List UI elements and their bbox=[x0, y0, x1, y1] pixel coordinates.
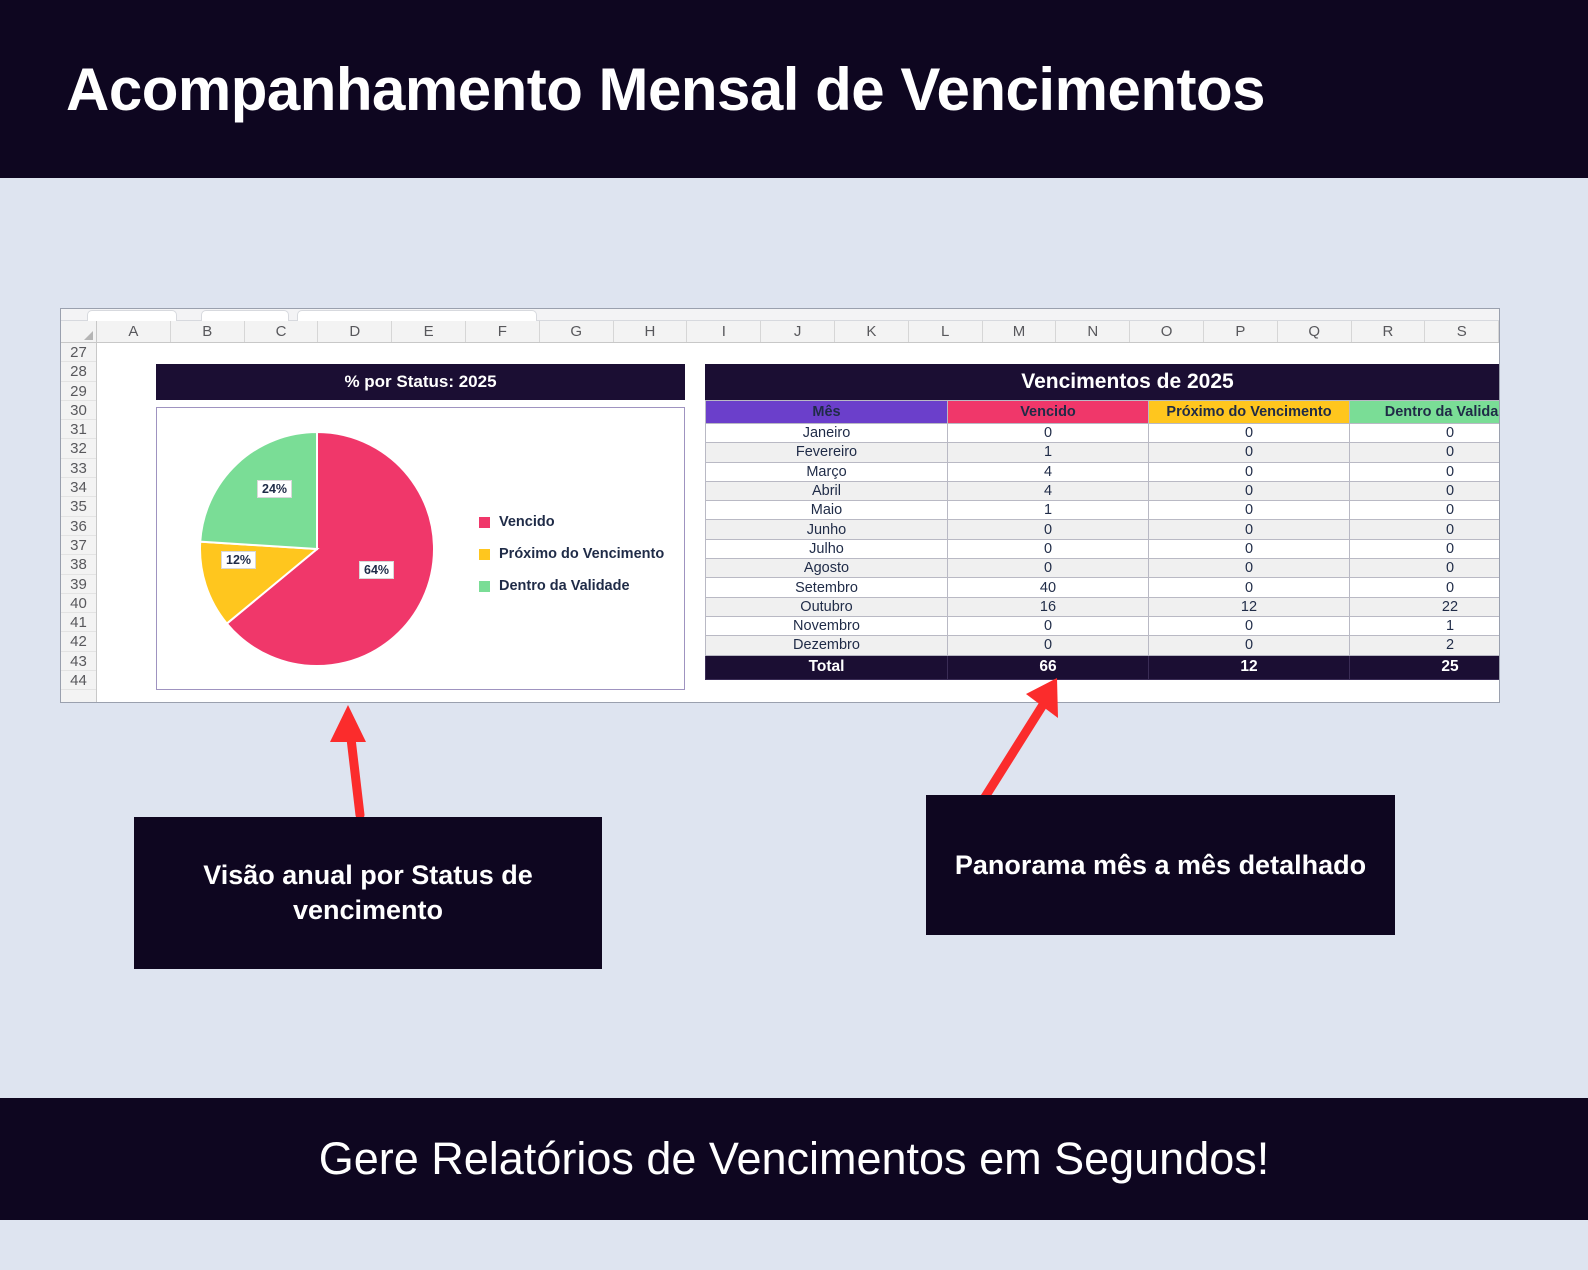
cell-mes: Agosto bbox=[706, 559, 948, 578]
cell-proximo: 0 bbox=[1149, 501, 1350, 520]
cell-proximo: 0 bbox=[1149, 424, 1350, 443]
col-header-proximo: Próximo do Vencimento bbox=[1149, 401, 1350, 424]
top-banner: Acompanhamento Mensal de Vencimentos bbox=[0, 0, 1588, 178]
cell-vencido: 0 bbox=[948, 424, 1149, 443]
cell-mes: Dezembro bbox=[706, 636, 948, 655]
row-header-32[interactable]: 32 bbox=[61, 439, 96, 458]
cell-vencido: 0 bbox=[948, 559, 1149, 578]
cell-proximo: 12 bbox=[1149, 597, 1350, 616]
row-header-29[interactable]: 29 bbox=[61, 382, 96, 401]
legend-swatch-green-icon bbox=[479, 581, 490, 592]
row-header-39[interactable]: 39 bbox=[61, 575, 96, 594]
vencimentos-table: Mês Vencido Próximo do Vencimento Dentro… bbox=[705, 400, 1500, 680]
total-dentro: 25 bbox=[1350, 655, 1501, 679]
cell-mes: Julho bbox=[706, 539, 948, 558]
legend-label-vencido: Vencido bbox=[499, 514, 555, 530]
row-header-43[interactable]: 43 bbox=[61, 652, 96, 671]
row-header-31[interactable]: 31 bbox=[61, 420, 96, 439]
cell-mes: Abril bbox=[706, 481, 948, 500]
cell-dentro: 0 bbox=[1350, 481, 1501, 500]
row-header-34[interactable]: 34 bbox=[61, 478, 96, 497]
cell-vencido: 40 bbox=[948, 578, 1149, 597]
table-total-row: Total 66 12 25 bbox=[706, 655, 1501, 679]
legend-item-proximo: Próximo do Vencimento bbox=[479, 546, 664, 562]
total-proximo: 12 bbox=[1149, 655, 1350, 679]
row-header-column[interactable]: 272829303132333435363738394041424344 bbox=[61, 343, 97, 702]
cell-proximo: 0 bbox=[1149, 539, 1350, 558]
pie-chart: 64% 12% 24% bbox=[199, 431, 435, 672]
cell-vencido: 16 bbox=[948, 597, 1149, 616]
row-header-40[interactable]: 40 bbox=[61, 594, 96, 613]
cell-vencido: 1 bbox=[948, 501, 1149, 520]
cell-proximo: 0 bbox=[1149, 559, 1350, 578]
cell-mes: Janeiro bbox=[706, 424, 948, 443]
cell-dentro: 0 bbox=[1350, 501, 1501, 520]
cell-dentro: 22 bbox=[1350, 597, 1501, 616]
cell-vencido: 0 bbox=[948, 539, 1149, 558]
table-row: Março400 bbox=[706, 462, 1501, 481]
column-header-d[interactable]: D bbox=[318, 321, 392, 342]
poster-canvas: Acompanhamento Mensal de Vencimentos ABC… bbox=[0, 0, 1588, 1270]
cell-vencido: 4 bbox=[948, 481, 1149, 500]
column-header-row[interactable]: ABCDEFGHIJKLMNOPQRS bbox=[61, 321, 1499, 343]
table-row: Abril400 bbox=[706, 481, 1501, 500]
table-body: Janeiro000Fevereiro100Março400Abril400Ma… bbox=[706, 424, 1501, 656]
table-row: Agosto000 bbox=[706, 559, 1501, 578]
table-row: Outubro161222 bbox=[706, 597, 1501, 616]
pie-label-proximo: 12% bbox=[221, 551, 256, 569]
row-header-37[interactable]: 37 bbox=[61, 536, 96, 555]
monthly-table-panel: Vencimentos de 2025 Mês Vencido Próximo … bbox=[705, 364, 1500, 680]
cell-mes: Setembro bbox=[706, 578, 948, 597]
row-header-30[interactable]: 30 bbox=[61, 401, 96, 420]
cell-proximo: 0 bbox=[1149, 481, 1350, 500]
total-vencido: 66 bbox=[948, 655, 1149, 679]
cell-proximo: 0 bbox=[1149, 520, 1350, 539]
legend-swatch-pink-icon bbox=[479, 517, 490, 528]
column-header-h[interactable]: H bbox=[614, 321, 688, 342]
cell-proximo: 0 bbox=[1149, 443, 1350, 462]
cell-proximo: 0 bbox=[1149, 616, 1350, 635]
table-row: Fevereiro100 bbox=[706, 443, 1501, 462]
column-header-l[interactable]: L bbox=[909, 321, 983, 342]
row-header-33[interactable]: 33 bbox=[61, 459, 96, 478]
page-title: Acompanhamento Mensal de Vencimentos bbox=[0, 58, 1265, 121]
table-row: Junho000 bbox=[706, 520, 1501, 539]
bottom-banner: Gere Relatórios de Vencimentos em Segund… bbox=[0, 1098, 1588, 1220]
callout-left: Visão anual por Status de vencimento bbox=[134, 817, 602, 969]
cell-proximo: 0 bbox=[1149, 578, 1350, 597]
column-header-o[interactable]: O bbox=[1130, 321, 1204, 342]
table-row: Dezembro002 bbox=[706, 636, 1501, 655]
column-header-b[interactable]: B bbox=[171, 321, 245, 342]
cell-dentro: 0 bbox=[1350, 520, 1501, 539]
column-header-k[interactable]: K bbox=[835, 321, 909, 342]
select-all-corner[interactable] bbox=[61, 321, 97, 342]
table-row: Novembro001 bbox=[706, 616, 1501, 635]
cell-proximo: 0 bbox=[1149, 636, 1350, 655]
row-header-38[interactable]: 38 bbox=[61, 555, 96, 574]
cell-dentro: 0 bbox=[1350, 559, 1501, 578]
cell-vencido: 0 bbox=[948, 616, 1149, 635]
legend-label-proximo: Próximo do Vencimento bbox=[499, 546, 664, 562]
legend-item-dentro: Dentro da Validade bbox=[479, 578, 664, 594]
column-header-n[interactable]: N bbox=[1056, 321, 1130, 342]
table-row: Maio100 bbox=[706, 501, 1501, 520]
cell-dentro: 0 bbox=[1350, 578, 1501, 597]
column-header-a[interactable]: A bbox=[97, 321, 171, 342]
row-header-36[interactable]: 36 bbox=[61, 517, 96, 536]
row-header-35[interactable]: 35 bbox=[61, 497, 96, 516]
cell-mes: Maio bbox=[706, 501, 948, 520]
spreadsheet-screenshot: ABCDEFGHIJKLMNOPQRS 27282930313233343536… bbox=[60, 308, 1500, 703]
table-row: Julho000 bbox=[706, 539, 1501, 558]
cell-vencido: 4 bbox=[948, 462, 1149, 481]
cta-text: Gere Relatórios de Vencimentos em Segund… bbox=[319, 1133, 1270, 1185]
column-header-p[interactable]: P bbox=[1204, 321, 1278, 342]
column-header-s[interactable]: S bbox=[1425, 321, 1499, 342]
column-header-i[interactable]: I bbox=[687, 321, 761, 342]
row-header-44[interactable]: 44 bbox=[61, 671, 96, 690]
row-header-28[interactable]: 28 bbox=[61, 362, 96, 381]
callout-right: Panorama mês a mês detalhado bbox=[926, 795, 1395, 935]
cell-vencido: 0 bbox=[948, 636, 1149, 655]
arrow-to-chart-icon bbox=[330, 705, 366, 815]
column-header-g[interactable]: G bbox=[540, 321, 614, 342]
cell-dentro: 0 bbox=[1350, 539, 1501, 558]
grid-area: % por Status: 2025 64% 12% 24% bbox=[97, 343, 1499, 702]
column-header-f[interactable]: F bbox=[466, 321, 540, 342]
legend-swatch-yellow-icon bbox=[479, 549, 490, 560]
cell-mes: Novembro bbox=[706, 616, 948, 635]
cell-dentro: 0 bbox=[1350, 424, 1501, 443]
col-header-mes: Mês bbox=[706, 401, 948, 424]
pie-label-dentro: 24% bbox=[257, 480, 292, 498]
footer-strip bbox=[0, 1220, 1588, 1270]
pie-label-vencido: 64% bbox=[359, 561, 394, 579]
status-chart-panel: % por Status: 2025 64% 12% 24% bbox=[156, 364, 685, 690]
cell-dentro: 2 bbox=[1350, 636, 1501, 655]
column-header-e[interactable]: E bbox=[392, 321, 466, 342]
column-header-m[interactable]: M bbox=[983, 321, 1057, 342]
table-header-row: Mês Vencido Próximo do Vencimento Dentro… bbox=[706, 401, 1501, 424]
cell-mes: Outubro bbox=[706, 597, 948, 616]
col-header-dentro: Dentro da Validade bbox=[1350, 401, 1501, 424]
column-header-j[interactable]: J bbox=[761, 321, 835, 342]
row-header-27[interactable]: 27 bbox=[61, 343, 96, 362]
ribbon-sliver bbox=[61, 309, 1499, 321]
cell-proximo: 0 bbox=[1149, 462, 1350, 481]
column-header-c[interactable]: C bbox=[245, 321, 319, 342]
legend-label-dentro: Dentro da Validade bbox=[499, 578, 630, 594]
col-header-vencido: Vencido bbox=[948, 401, 1149, 424]
chart-plot-frame: 64% 12% 24% Vencido Próximo do Venciment… bbox=[156, 407, 685, 690]
pie-svg bbox=[199, 431, 435, 667]
column-header-r[interactable]: R bbox=[1352, 321, 1426, 342]
cell-dentro: 1 bbox=[1350, 616, 1501, 635]
cell-vencido: 1 bbox=[948, 443, 1149, 462]
cell-vencido: 0 bbox=[948, 520, 1149, 539]
table-title: Vencimentos de 2025 bbox=[705, 364, 1500, 400]
chart-title: % por Status: 2025 bbox=[156, 364, 685, 400]
cell-mes: Fevereiro bbox=[706, 443, 948, 462]
chart-legend: Vencido Próximo do Vencimento Dentro da … bbox=[479, 514, 664, 610]
table-row: Setembro4000 bbox=[706, 578, 1501, 597]
row-header-41[interactable]: 41 bbox=[61, 613, 96, 632]
total-label: Total bbox=[706, 655, 948, 679]
cell-mes: Junho bbox=[706, 520, 948, 539]
cell-dentro: 0 bbox=[1350, 443, 1501, 462]
cell-dentro: 0 bbox=[1350, 462, 1501, 481]
table-row: Janeiro000 bbox=[706, 424, 1501, 443]
legend-item-vencido: Vencido bbox=[479, 514, 664, 530]
row-header-42[interactable]: 42 bbox=[61, 632, 96, 651]
cell-mes: Março bbox=[706, 462, 948, 481]
column-header-q[interactable]: Q bbox=[1278, 321, 1352, 342]
